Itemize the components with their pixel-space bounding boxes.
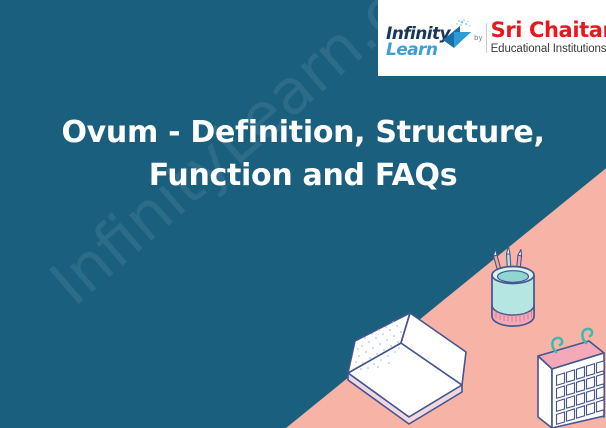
logo-separator: by	[474, 23, 487, 53]
page-title: Ovum - Definition, Structure, Function a…	[40, 112, 566, 197]
sri-chaitanya-subtitle: Educational Institutions	[491, 44, 606, 56]
brand-logo-inner: Infinity Learn by	[386, 14, 606, 62]
course-banner: InfinityLearn.com	[0, 0, 606, 428]
infinity-learn-word-learn: Learn	[386, 42, 437, 59]
sri-chaitanya-logo[interactable]: Sri Chaitanya Educational Institutions	[491, 20, 606, 56]
infinity-learn-logo[interactable]: Infinity Learn	[386, 14, 472, 62]
logo-by-label: by	[474, 34, 483, 42]
page-title-line2: Function and FAQs	[149, 158, 458, 193]
sri-chaitanya-title: Sri Chaitanya	[491, 20, 606, 41]
page-title-line1: Ovum - Definition, Structure,	[61, 115, 544, 150]
logo-divider	[486, 23, 487, 53]
brand-logo-bar[interactable]: Infinity Learn by	[378, 0, 606, 76]
infinity-arrow-icon	[440, 18, 474, 58]
